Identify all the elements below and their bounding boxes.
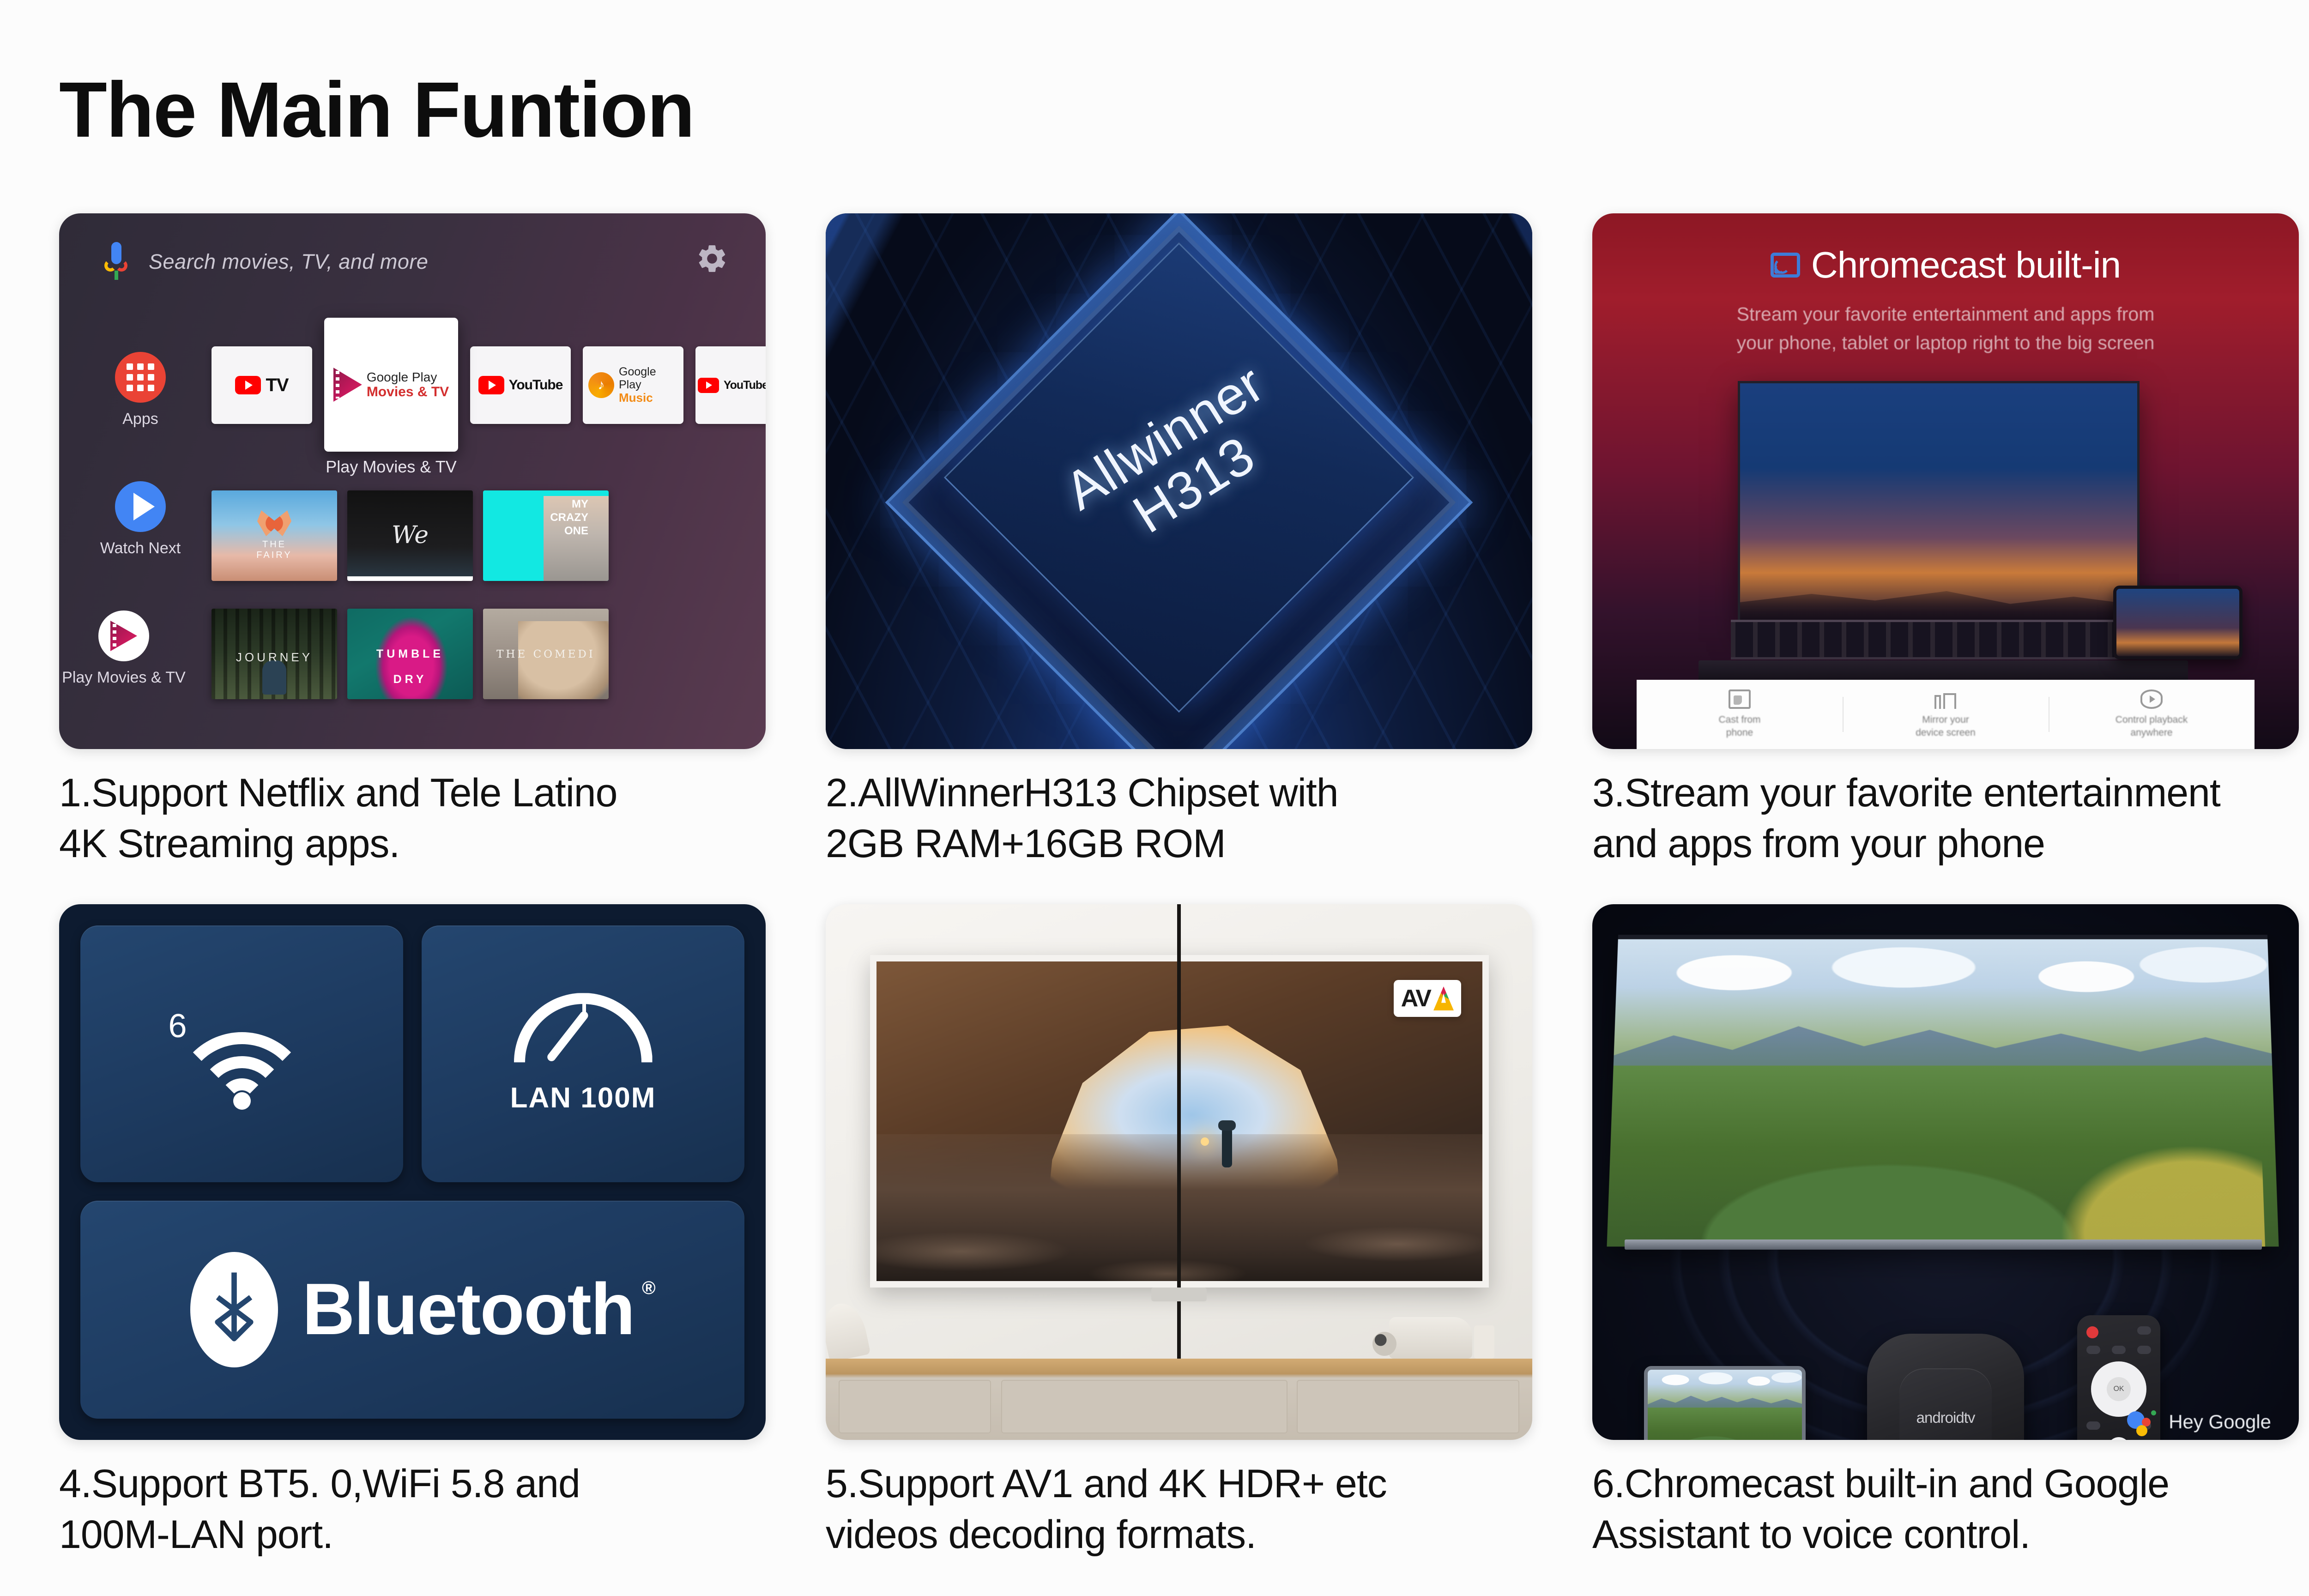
- av1-badge-text: AV: [1401, 985, 1431, 1012]
- trademark-symbol: ®: [642, 1278, 654, 1299]
- tv-search-bar[interactable]: Search movies, TV, and more: [103, 242, 428, 282]
- chip-illustration: Allwinner H313: [971, 295, 1387, 710]
- google-assistant-dots-icon: [2127, 1408, 2160, 1436]
- rail-item-play-movies[interactable]: Play Movies & TV: [87, 611, 161, 687]
- play-movies-poster-row: JOURNEY TUMBLE DRY THE COMEDI: [212, 609, 609, 699]
- android-tv-box: androidtv: [1867, 1334, 2024, 1440]
- rail-label: Play Movies & TV: [62, 669, 186, 687]
- tile-bluetooth: Bluetooth®: [80, 1201, 744, 1419]
- gear-icon[interactable]: [695, 242, 729, 275]
- panel-android-tv-home: Search movies, TV, and more Apps: [59, 213, 766, 749]
- tv-stand: [1625, 1239, 2262, 1250]
- youtube-icon: [698, 378, 719, 393]
- feature-text: Cast from phone: [1718, 713, 1760, 740]
- app-label: YouTube: [509, 377, 563, 393]
- youtube-icon: [478, 376, 504, 394]
- app-card-play-music[interactable]: Google Play Music: [583, 346, 683, 424]
- poster-title: MY CRAZY ONE: [550, 498, 588, 538]
- youtube-icon: [235, 376, 261, 394]
- feature-cell-6: Chromecast built-in androidtv: [1592, 904, 2299, 1560]
- feature-item: Cast from phone: [1637, 689, 1843, 740]
- feature-text: Mirror your device screen: [1916, 713, 1976, 740]
- chromecast-heading: Chromecast built-in: [1592, 244, 2299, 286]
- poster-title: THE COMEDI: [483, 648, 609, 660]
- app-label-line2: Movies & TV: [367, 384, 449, 400]
- remote-assistant-button: [2108, 1437, 2130, 1440]
- infographic-page: The Main Funtion Search movies, TV, and …: [0, 0, 2309, 1596]
- connectivity-top-row: 6 LAN 100M: [80, 925, 744, 1182]
- feature-cell-4: 6 LAN 100M: [59, 904, 766, 1560]
- poster-item[interactable]: JOURNEY: [212, 609, 337, 699]
- play-movies-icon: [98, 611, 149, 661]
- panel-caption-3: 3.Stream your favorite entertainment and…: [1592, 768, 2299, 869]
- feature-item: Control playback anywhere: [2049, 689, 2255, 740]
- page-title: The Main Funtion: [59, 65, 694, 155]
- chromecast-subtext: Stream your favorite entertainment and a…: [1648, 300, 2243, 357]
- bluetooth-wordmark: Bluetooth®: [302, 1268, 634, 1351]
- chromecast-feature-bar: Cast from phone Mirror your device scree…: [1637, 680, 2255, 749]
- cast-icon: [1771, 253, 1800, 278]
- wifi-badge: 6: [169, 1007, 187, 1045]
- rail-item-watch-next[interactable]: Watch Next: [103, 481, 177, 557]
- panel-av1-decoding: AV: [826, 904, 1532, 1440]
- poster-title: THE FAIRY: [212, 539, 337, 561]
- app-label-line2: Music: [619, 391, 678, 405]
- tv-railing: [1731, 620, 2146, 659]
- laptop-phone-icon: [1934, 689, 1957, 709]
- wifi-6-icon: 6: [166, 996, 318, 1112]
- feature-grid: Search movies, TV, and more Apps: [59, 213, 2309, 1560]
- app-label-line1: Google Play: [619, 365, 678, 391]
- feature-cell-2: Allwinner H313 2.AllWinnerH313 Chipset w…: [826, 213, 1532, 869]
- app-card-youtube-tv[interactable]: TV: [212, 346, 312, 424]
- shelf-decor: [1389, 1317, 1472, 1359]
- rail-label: Watch Next: [100, 539, 181, 557]
- panel-chromecast-assistant: Chromecast built-in androidtv: [1592, 904, 2299, 1440]
- feature-item: Mirror your device screen: [1843, 689, 2049, 740]
- google-mic-icon: [103, 242, 129, 282]
- panel-connectivity: 6 LAN 100M: [59, 904, 766, 1440]
- app-card-youtube-kids[interactable]: YouTube Kids: [695, 346, 766, 424]
- hey-google-badge: Hey Google: [2127, 1408, 2271, 1436]
- app-shortcut-row: TV Google Play Movies & TV Play Movies &…: [212, 346, 766, 452]
- panel-allwinner-chip: Allwinner H313: [826, 213, 1532, 749]
- tv-stand: [1151, 1288, 1207, 1301]
- av1-triangle-icon: [1433, 986, 1454, 1010]
- panel-chromecast-built-in: Chromecast built-in Stream your favorite…: [1592, 213, 2299, 749]
- panel-caption-2: 2.AllWinnerH313 Chipset with 2GB RAM+16G…: [826, 768, 1532, 869]
- hiker-figure: [1222, 1128, 1232, 1167]
- panel-caption-4: 4.Support BT5. 0,WiFi 5.8 and 100M-LAN p…: [59, 1458, 766, 1560]
- feature-cell-3: Chromecast built-in Stream your favorite…: [1592, 213, 2299, 869]
- poster-title: JOURNEY: [212, 650, 337, 665]
- panel-caption-5: 5.Support AV1 and 4K HDR+ etc videos dec…: [826, 1458, 1532, 1560]
- play-circle-outline-icon: [2140, 689, 2163, 709]
- feature-row-1: Search movies, TV, and more Apps: [59, 213, 2309, 869]
- app-label-line1: Google Play: [367, 370, 449, 384]
- bluetooth-icon: [190, 1252, 278, 1367]
- cast-screen-icon: [1729, 689, 1751, 709]
- app-card-youtube[interactable]: YouTube: [470, 346, 571, 424]
- poster-item[interactable]: MY CRAZY ONE: [483, 490, 609, 581]
- tv-screen: [1740, 383, 2137, 633]
- play-circle-icon: [115, 481, 166, 532]
- watch-next-poster-row: THE FAIRY We MY CRAZY ONE: [212, 490, 609, 581]
- lan-label: LAN 100M: [510, 1082, 656, 1114]
- panel-caption-6: 6.Chromecast built-in and Google Assista…: [1592, 1458, 2299, 1560]
- chromecast-heading-text: Chromecast built-in: [1811, 244, 2121, 286]
- tv-screen: [1607, 935, 2279, 1246]
- poster-item[interactable]: THE FAIRY: [212, 490, 337, 581]
- lantern-light: [1201, 1137, 1209, 1146]
- phone-screen: [2113, 586, 2243, 659]
- tile-wifi: 6: [80, 925, 403, 1182]
- speedometer-icon: [514, 993, 653, 1071]
- search-placeholder: Search movies, TV, and more: [149, 250, 428, 274]
- app-card-play-movies-tv[interactable]: Google Play Movies & TV Play Movies & TV: [324, 318, 458, 452]
- focused-app-label: Play Movies & TV: [326, 457, 456, 477]
- device-brand-label: androidtv: [1916, 1409, 1975, 1427]
- device-face: androidtv: [1899, 1368, 1992, 1440]
- av1-badge: AV: [1394, 980, 1461, 1017]
- play-movies-icon: [333, 368, 362, 402]
- app-label: YouTube Kids: [724, 379, 766, 392]
- feature-row-2: 6 LAN 100M: [59, 904, 2309, 1560]
- feature-cell-5: AV 5.Support AV1 and 4K HDR+ etc videos …: [826, 904, 1532, 1560]
- feature-text: Control playback anywhere: [2116, 713, 2188, 740]
- rail-item-apps[interactable]: Apps: [103, 352, 177, 428]
- play-music-icon: [588, 372, 614, 398]
- tv-scene: [1607, 939, 2279, 1247]
- assistant-label: Hey Google: [2169, 1411, 2271, 1433]
- feature-cell-1: Search movies, TV, and more Apps: [59, 213, 766, 869]
- phone-screen: [1644, 1366, 1806, 1440]
- media-cabinet: [826, 1359, 1532, 1440]
- rail-label: Apps: [122, 410, 158, 428]
- poster-title: We: [347, 521, 473, 549]
- panel-caption-1: 1.Support Netflix and Tele Latino 4K Str…: [59, 768, 766, 869]
- tile-lan: LAN 100M: [422, 925, 744, 1182]
- bluetooth-label: Bluetooth: [302, 1269, 634, 1350]
- poster-item[interactable]: We: [347, 490, 473, 581]
- poster-item[interactable]: THE COMEDI: [483, 609, 609, 699]
- apps-grid-icon: [115, 352, 166, 403]
- poster-item[interactable]: TUMBLE DRY: [347, 609, 473, 699]
- app-label: TV: [266, 375, 288, 396]
- poster-title: TUMBLE DRY: [347, 641, 473, 692]
